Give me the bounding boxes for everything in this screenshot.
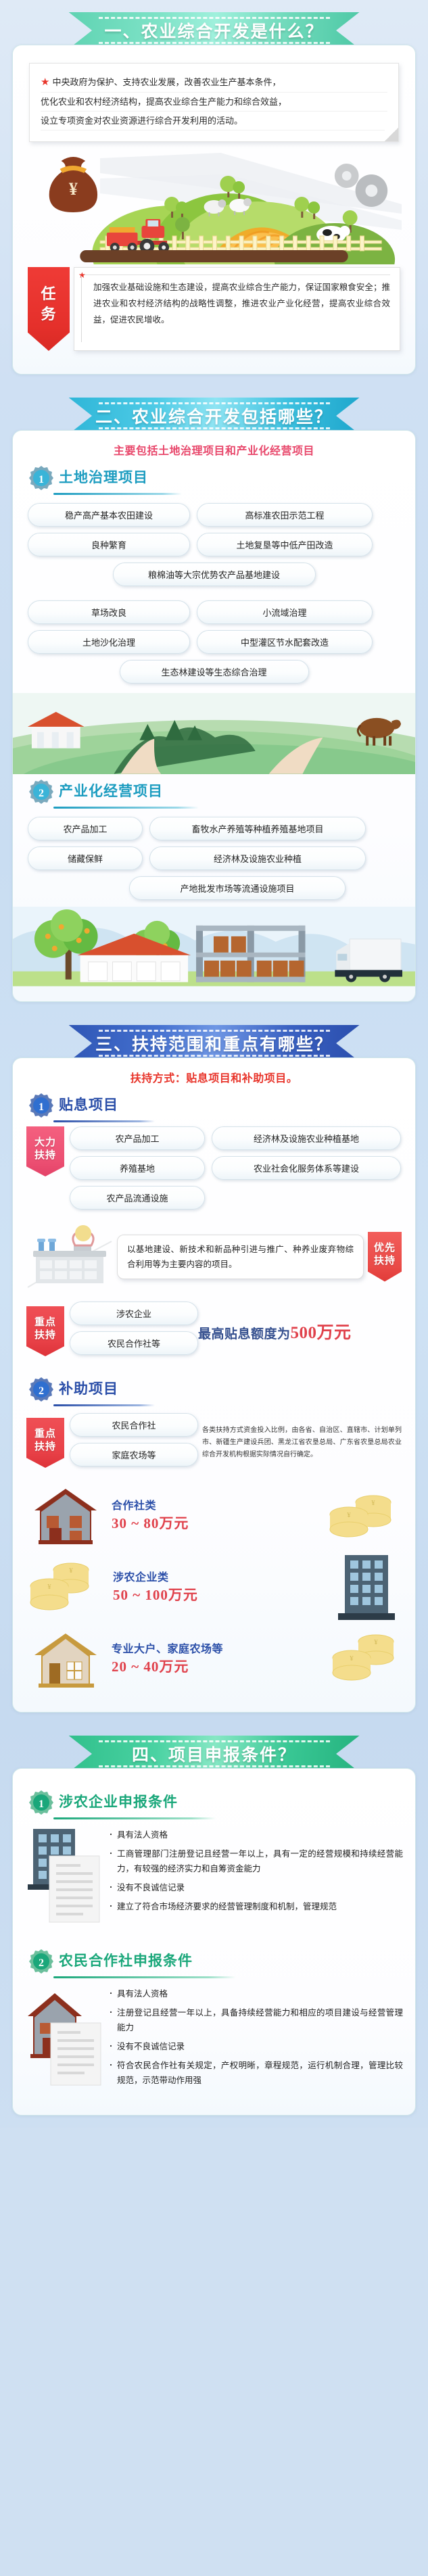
coin-stack-icon: ¥ ¥ <box>325 1487 399 1542</box>
amount-row-household: 专业大户、家庭农场等 20 ~ 40万元 ¥ ¥ <box>29 1627 399 1689</box>
subsection-underline <box>53 807 199 809</box>
pill-row: 草场改良 小流域治理 <box>28 600 400 624</box>
banner-dash-top <box>99 1740 330 1742</box>
flag-line-1: 大力 <box>34 1136 56 1149</box>
list-item[interactable]: 粮棉油等大宗优势农产品基地建设 <box>113 563 316 586</box>
flag-line-2: 扶持 <box>34 1149 56 1162</box>
section-1-card: ★中央政府为保护、支持农业发展，改善农业生产基本条件， 优化农业和农村经济结构，… <box>12 45 416 375</box>
gear-number-icon: 2 <box>28 1376 55 1403</box>
list-item: 具有法人资格 <box>109 1986 403 2001</box>
money-bag-icon: ¥ <box>49 157 97 212</box>
flag-line-2: 扶持 <box>34 1329 56 1341</box>
pasture-illustration <box>13 693 415 774</box>
amount-value: 30 ~ 80万元 <box>112 1512 189 1533</box>
pill-row: 涉农企业 <box>70 1302 198 1325</box>
section-3-banner-wrap: 三、扶持范围和重点有哪些？ <box>0 1025 428 1062</box>
list-item[interactable]: 良种繁育 <box>28 533 190 556</box>
pill-row: 土地沙化治理 中型灌区节水配套改造 <box>28 630 400 654</box>
svg-text:¥: ¥ <box>347 1511 351 1519</box>
list-item[interactable]: 生态林建设等生态综合治理 <box>120 660 309 684</box>
list-item[interactable]: 产地批发市场等流通设施项目 <box>129 876 346 900</box>
pill-row: 粮棉油等大宗优势农产品基地建设 <box>28 563 400 586</box>
red-star-icon: ★ <box>41 77 49 88</box>
key-support-row: 重点 扶持 涉农企业 农民合作社等 最高贴息额度为500万元 <box>26 1302 402 1361</box>
pill-row: 农民合作社等 <box>70 1331 198 1355</box>
subsection-title: 贴息项目 <box>59 1094 118 1117</box>
gear-number-icon: 2 <box>28 1948 55 1975</box>
subsection-underline <box>53 1120 155 1122</box>
subsection-grant-header: 2 补助项目 <box>28 1376 403 1403</box>
section-2-banner: 二、农业综合开发包括哪些？ <box>69 398 360 434</box>
section-3-card: 扶持方式：贴息项目和补助项目。 1 贴息项目 大力 扶持 农产品加工 经济林及设… <box>12 1057 416 1713</box>
subsection-underline <box>53 1976 236 1978</box>
cooperative-conditions-list: 具有法人资格 注册登记且经营一年以上，具备持续经营能力和相应的项目建设与经营管理… <box>109 1986 403 2092</box>
pill-row: 养殖基地 农业社会化服务体系等建设 <box>70 1156 402 1180</box>
section-1-banner-wrap: 一、农业综合开发是什么？ <box>0 12 428 49</box>
task-tag: 任 务 <box>28 267 70 351</box>
page-fold-corner-icon <box>385 128 398 141</box>
key-support-pills: 涉农企业 农民合作社等 <box>70 1302 198 1361</box>
pill-row: 农产品加工 经济林及设施农业种植基地 <box>70 1126 402 1150</box>
land-management-pill-list: 稳产高产基本农田建设 高标准农田示范工程 良种繁育 土地复垦等中低产田改造 粮棉… <box>28 503 400 684</box>
list-item[interactable]: 稳产高产基本农田建设 <box>28 503 190 527</box>
task-tag-char-1: 任 <box>41 284 56 304</box>
subsection-underline <box>53 493 182 495</box>
amount-value: 50 ~ 100万元 <box>113 1584 198 1604</box>
amount-category: 合作社类 <box>112 1496 189 1512</box>
amount-value: 20 ~ 40万元 <box>112 1656 223 1676</box>
section-2-title: 二、农业综合开发包括哪些？ <box>95 404 333 428</box>
amount-text: 专业大户、家庭农场等 20 ~ 40万元 <box>112 1640 223 1676</box>
definition-line-3: 设立专项资金对农业资源进行综合开发利用的活动。 <box>41 112 387 130</box>
svg-text:¥: ¥ <box>374 1638 378 1646</box>
pill-row: 良种繁育 土地复垦等中低产田改造 <box>28 533 400 556</box>
svg-text:2: 2 <box>39 1957 44 1969</box>
list-item[interactable]: 高标准农田示范工程 <box>197 503 373 527</box>
subsection-cooperative-conditions-header: 2 农民合作社申报条件 <box>28 1948 403 1975</box>
svg-text:¥: ¥ <box>47 1583 51 1591</box>
list-item: 注册登记且经营一年以上，具备持续经营能力和相应的项目建设与经营管理能力 <box>109 2005 403 2035</box>
pill-row: 家庭农场等 <box>70 1443 198 1466</box>
small-star-icon: ★ <box>78 270 86 280</box>
list-item[interactable]: 经济林及设施农业种植 <box>149 846 366 870</box>
pill-row: 生态林建设等生态综合治理 <box>28 660 400 684</box>
subsection-underline <box>53 1817 216 1819</box>
task-text-box: ★ 加强农业基础设施和生态建设，提高农业综合生产能力，保证国家粮食安全；推进农业… <box>74 267 400 351</box>
list-item[interactable]: 养殖基地 <box>70 1156 205 1180</box>
key-support-flag: 重点 扶持 <box>26 1306 64 1356</box>
max-subsidy-prefix: 最高贴息额度为 <box>198 1327 291 1341</box>
section-3-banner: 三、扶持范围和重点有哪些？ <box>69 1025 360 1062</box>
strong-support-flag: 大力 扶持 <box>26 1126 64 1176</box>
list-item: 符合农民合作社有关规定，产权明晰，章程规范，运行机制合理，管理比较规范，示范带动… <box>109 2058 403 2088</box>
svg-text:1: 1 <box>39 1798 44 1810</box>
pill-row: 储藏保鲜 经济林及设施农业种植 <box>28 846 400 870</box>
key-support-flag: 重点 扶持 <box>26 1418 64 1468</box>
pill-row: 农民合作社 <box>70 1413 198 1437</box>
list-item[interactable]: 农业社会化服务体系等建设 <box>212 1156 401 1180</box>
list-item: 具有法人资格 <box>109 1828 403 1842</box>
flag-line-2: 扶持 <box>374 1254 396 1267</box>
banner-dash-bottom <box>99 1055 330 1057</box>
gear-number-icon: 1 <box>28 1092 55 1119</box>
lab-greenhouse-icon <box>26 1221 113 1289</box>
strong-support-pills: 农产品加工 经济林及设施农业种植基地 养殖基地 农业社会化服务体系等建设 农产品… <box>70 1126 402 1216</box>
farm-illustration: ¥ <box>26 146 402 264</box>
list-item[interactable]: 家庭农场等 <box>70 1443 198 1466</box>
priority-support-row: 以基地建设、新技术和新品种引进与推广、种养业废弃物综合利用等为主要内容的项目。 … <box>26 1221 402 1292</box>
pill-row: 产地批发市场等流通设施项目 <box>28 876 400 900</box>
task-vertical-rule <box>81 276 82 342</box>
svg-text:2: 2 <box>39 1385 44 1397</box>
max-subsidy-amount: 最高贴息额度为500万元 <box>198 1319 352 1343</box>
list-item[interactable]: 草场改良 <box>28 600 190 624</box>
house-gray-icon <box>29 1483 102 1546</box>
list-item[interactable]: 农产品加工 <box>28 817 143 840</box>
subsection-title: 涉农企业申报条件 <box>59 1791 178 1814</box>
svg-text:¥: ¥ <box>69 1567 73 1575</box>
max-subsidy-unit: 万元 <box>317 1324 352 1342</box>
list-item[interactable]: 农产品加工 <box>70 1126 205 1150</box>
section-4-banner: 四、项目申报条件？ <box>69 1736 360 1772</box>
flag-line-1: 重点 <box>34 1427 56 1440</box>
flag-line-1: 优先 <box>374 1241 396 1254</box>
svg-text:1: 1 <box>39 474 44 485</box>
grant-pills: 农民合作社 家庭农场等 <box>70 1413 198 1473</box>
flag-line-1: 重点 <box>34 1316 56 1329</box>
subsection-interest-subsidy-header: 1 贴息项目 <box>28 1092 403 1119</box>
list-item: 工商管理部门注册登记且经营一年以上，具有一定的经营规模和持续经营能力，有较强的经… <box>109 1846 403 1876</box>
amount-category: 专业大户、家庭农场等 <box>112 1640 223 1656</box>
task-divider <box>84 275 390 275</box>
gear-number-icon: 1 <box>28 1789 55 1816</box>
office-building-doc-icon <box>25 1826 105 1928</box>
list-item[interactable]: 土地沙化治理 <box>28 630 190 654</box>
section-2-lede: 主要包括土地治理项目和产业化经营项目 <box>13 442 415 458</box>
pasture-scene-svg <box>13 693 415 774</box>
list-item[interactable]: 土地复垦等中低产田改造 <box>197 533 373 556</box>
enterprise-conditions-list: 具有法人资格 工商管理部门注册登记且经营一年以上，具有一定的经营规模和持续经营能… <box>109 1828 403 1918</box>
definition-box: ★中央政府为保护、支持农业发展，改善农业生产基本条件， 优化农业和农村经济结构，… <box>29 63 399 142</box>
gear-number-icon: 2 <box>28 778 55 805</box>
task-tag-char-2: 务 <box>41 304 56 325</box>
section-1-banner: 一、农业综合开发是什么？ <box>69 12 360 49</box>
banner-dash-top <box>99 402 330 404</box>
banner-dash-top <box>99 1030 330 1032</box>
house-tan-icon <box>29 1627 102 1689</box>
section-3-lede: 扶持方式：贴息项目和补助项目。 <box>13 1069 415 1085</box>
strong-support-row: 大力 扶持 农产品加工 经济林及设施农业种植基地 养殖基地 农业社会化服务体系等… <box>26 1126 402 1216</box>
top-spacer <box>0 0 428 12</box>
house-doc-icon <box>25 1985 105 2086</box>
section-gap-2 <box>0 1002 428 1025</box>
bottom-spacer <box>0 2116 428 2128</box>
subsection-industrialization-header: 2 产业化经营项目 <box>28 778 403 805</box>
subsection-title: 土地治理项目 <box>59 467 148 490</box>
pill-row: 农产品流通设施 <box>70 1186 402 1210</box>
subsection-title: 产业化经营项目 <box>59 780 163 803</box>
amount-text: 合作社类 30 ~ 80万元 <box>112 1496 189 1533</box>
grant-key-support-row: 重点 扶持 农民合作社 家庭农场等 各类扶持方式资金投入比例，由各省、自治区、直… <box>26 1413 402 1473</box>
coin-stack-icon: ¥ ¥ <box>325 1632 399 1684</box>
farm-scene-svg: ¥ <box>26 146 402 264</box>
section-2-card: 主要包括土地治理项目和产业化经营项目 1 土地治理项目 稳产高产基本农田建设 高… <box>12 430 416 1002</box>
subsection-title: 农民合作社申报条件 <box>59 1950 193 1973</box>
subsection-underline <box>53 1404 155 1406</box>
greenhouse-illustration <box>26 1221 113 1292</box>
amount-row-enterprise: ¥ ¥ 涉农企业类 50 ~ 100万元 <box>29 1551 399 1621</box>
subsection-enterprise-conditions-header: 1 涉农企业申报条件 <box>28 1789 403 1816</box>
banner-dash-bottom <box>99 1765 330 1767</box>
enterprise-doc-art <box>25 1826 105 1928</box>
svg-text:2: 2 <box>39 788 44 799</box>
priority-support-text: 以基地建设、新技术和新品种引进与推广、种养业废弃物综合利用等为主要内容的项目。 <box>117 1235 364 1279</box>
list-item[interactable]: 储藏保鲜 <box>28 846 143 870</box>
warehouse-illustration <box>13 907 415 986</box>
warehouse-scene-svg <box>13 907 415 986</box>
enterprise-conditions-row: 具有法人资格 工商管理部门注册登记且经营一年以上，具有一定的经营规模和持续经营能… <box>25 1826 403 1928</box>
section-3-title: 三、扶持范围和重点有哪些？ <box>95 1031 333 1055</box>
list-item[interactable]: 小流域治理 <box>197 600 373 624</box>
list-item[interactable]: 经济林及设施农业种植基地 <box>212 1126 401 1150</box>
cooperative-doc-art <box>25 1985 105 2086</box>
section-4-banner-wrap: 四、项目申报条件？ <box>0 1736 428 1772</box>
list-item[interactable]: 农民合作社 <box>70 1413 198 1437</box>
amount-category: 涉农企业类 <box>113 1568 198 1584</box>
cooperative-conditions-row: 具有法人资格 注册登记且经营一年以上，具备持续经营能力和相应的项目建设与经营管理… <box>25 1985 403 2092</box>
priority-support-flag: 优先 扶持 <box>368 1232 402 1282</box>
subsection-land-management-header: 1 土地治理项目 <box>28 464 403 492</box>
list-item: 没有不良诚信记录 <box>109 1880 403 1895</box>
max-subsidy-value: 500 <box>291 1324 317 1342</box>
section-gap-1 <box>0 375 428 398</box>
svg-text:¥: ¥ <box>371 1499 375 1507</box>
definition-line-2: 优化农业和农村经济结构，提高农业综合生产能力和综合效益， <box>41 93 387 112</box>
grant-ratio-note: 各类扶持方式资金投入比例，由各省、自治区、直辖市、计划单列市、新疆生产建设兵团、… <box>202 1425 402 1461</box>
banner-dash-bottom <box>99 427 330 429</box>
subsection-title: 补助项目 <box>59 1378 118 1401</box>
svg-text:¥: ¥ <box>350 1654 354 1663</box>
list-item[interactable]: 农产品流通设施 <box>70 1186 205 1210</box>
list-item[interactable]: 畜牧水产养殖等种植养殖基地项目 <box>149 817 366 840</box>
list-item[interactable]: 中型灌区节水配套改造 <box>197 630 373 654</box>
list-item[interactable]: 农民合作社等 <box>70 1331 198 1355</box>
section-4-card: 1 涉农企业申报条件 <box>12 1768 416 2116</box>
list-item: 建立了符合市场经济要求的经营管理制度和机制，管理规范 <box>109 1899 403 1914</box>
banner-dash-top <box>99 17 330 19</box>
list-item[interactable]: 涉农企业 <box>70 1302 198 1325</box>
coin-stack-icon: ¥ ¥ <box>29 1559 103 1613</box>
task-text: 加强农业基础设施和生态建设，提高农业综合生产能力，保证国家粮食安全；推进农业和农… <box>93 279 390 328</box>
section-2-banner-wrap: 二、农业综合开发包括哪些？ <box>0 398 428 434</box>
flag-line-2: 扶持 <box>34 1440 56 1453</box>
section-4-title: 四、项目申报条件？ <box>132 1742 296 1766</box>
office-building-icon <box>334 1551 399 1621</box>
gear-number-icon: 1 <box>28 464 55 492</box>
task-row: 任 务 ★ 加强农业基础设施和生态建设，提高农业综合生产能力，保证国家粮食安全；… <box>28 267 400 351</box>
section-gap-3 <box>0 1713 428 1736</box>
industrialization-pill-list: 农产品加工 畜牧水产养殖等种植养殖基地项目 储藏保鲜 经济林及设施农业种植 产地… <box>28 817 400 900</box>
definition-line-1: ★中央政府为保护、支持农业发展，改善农业生产基本条件， <box>41 73 387 93</box>
infographic-page: 一、农业综合开发是什么？ ★中央政府为保护、支持农业发展，改善农业生产基本条件，… <box>0 0 428 2128</box>
list-item: 没有不良诚信记录 <box>109 2039 403 2054</box>
svg-text:1: 1 <box>39 1101 44 1113</box>
pill-row: 农产品加工 畜牧水产养殖等种植养殖基地项目 <box>28 817 400 840</box>
amount-text: 涉农企业类 50 ~ 100万元 <box>113 1568 198 1604</box>
pill-row: 稳产高产基本农田建设 高标准农田示范工程 <box>28 503 400 527</box>
svg-text:¥: ¥ <box>69 179 78 199</box>
subsection-spacer <box>13 1928 415 1945</box>
amount-row-cooperative: 合作社类 30 ~ 80万元 ¥ ¥ <box>29 1483 399 1546</box>
section-1-title: 一、农业综合开发是什么？ <box>104 18 323 43</box>
banner-dash-bottom <box>99 42 330 44</box>
